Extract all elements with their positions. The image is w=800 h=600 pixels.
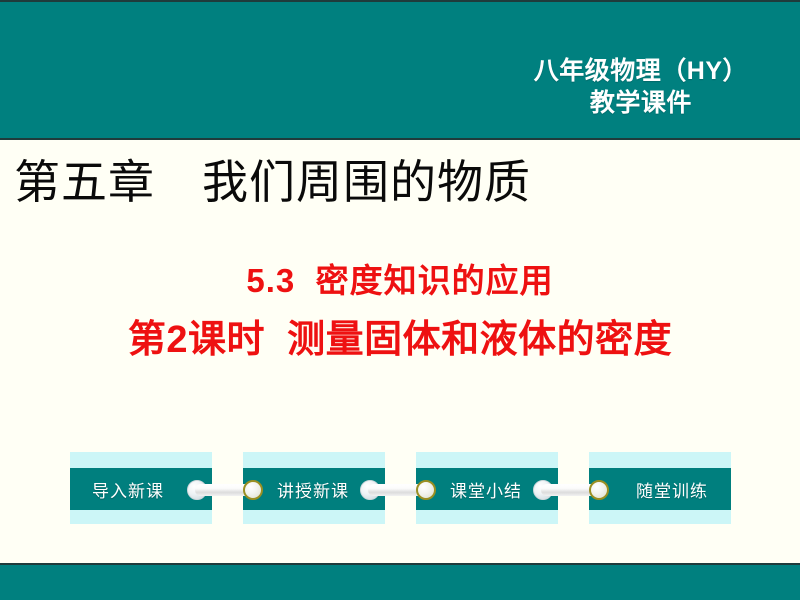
- footer-band: [0, 563, 800, 600]
- header-course-label: 八年级物理（HY） 教学课件: [534, 56, 748, 118]
- nav-connector-icon: [360, 480, 436, 500]
- header-course-line1: 八年级物理（HY）: [534, 56, 748, 86]
- nav-connector-icon: [187, 480, 263, 500]
- header-band: 八年级物理（HY） 教学课件: [0, 0, 800, 140]
- slide-canvas: 八年级物理（HY） 教学课件 第五章 我们周围的物质 5.3 密度知识的应用 第…: [0, 0, 800, 600]
- header-course-line2: 教学课件: [534, 88, 748, 118]
- connector-knob-right-icon: [589, 480, 609, 500]
- nav-item-label: 讲授新课: [277, 477, 349, 502]
- nav-item-in-class-practice[interactable]: 随堂训练: [589, 452, 731, 524]
- nav-item-label: 课堂小结: [450, 477, 522, 502]
- nav-connector-icon: [533, 480, 609, 500]
- nav-item-label: 导入新课: [92, 477, 164, 502]
- lesson-title: 第2课时 测量固体和液体的密度: [0, 312, 800, 368]
- title-block: 5.3 密度知识的应用 第2课时 测量固体和液体的密度: [0, 258, 800, 368]
- chapter-title: 第五章 我们周围的物质: [14, 153, 531, 213]
- nav-item-label: 随堂训练: [636, 477, 708, 502]
- connector-knob-right-icon: [243, 480, 263, 500]
- nav-band[interactable]: 随堂训练: [589, 468, 731, 510]
- section-title: 5.3 密度知识的应用: [0, 258, 800, 304]
- navigation-strip: 导入新课 讲授新课 课堂小结 随堂训练: [70, 452, 738, 524]
- connector-knob-right-icon: [416, 480, 436, 500]
